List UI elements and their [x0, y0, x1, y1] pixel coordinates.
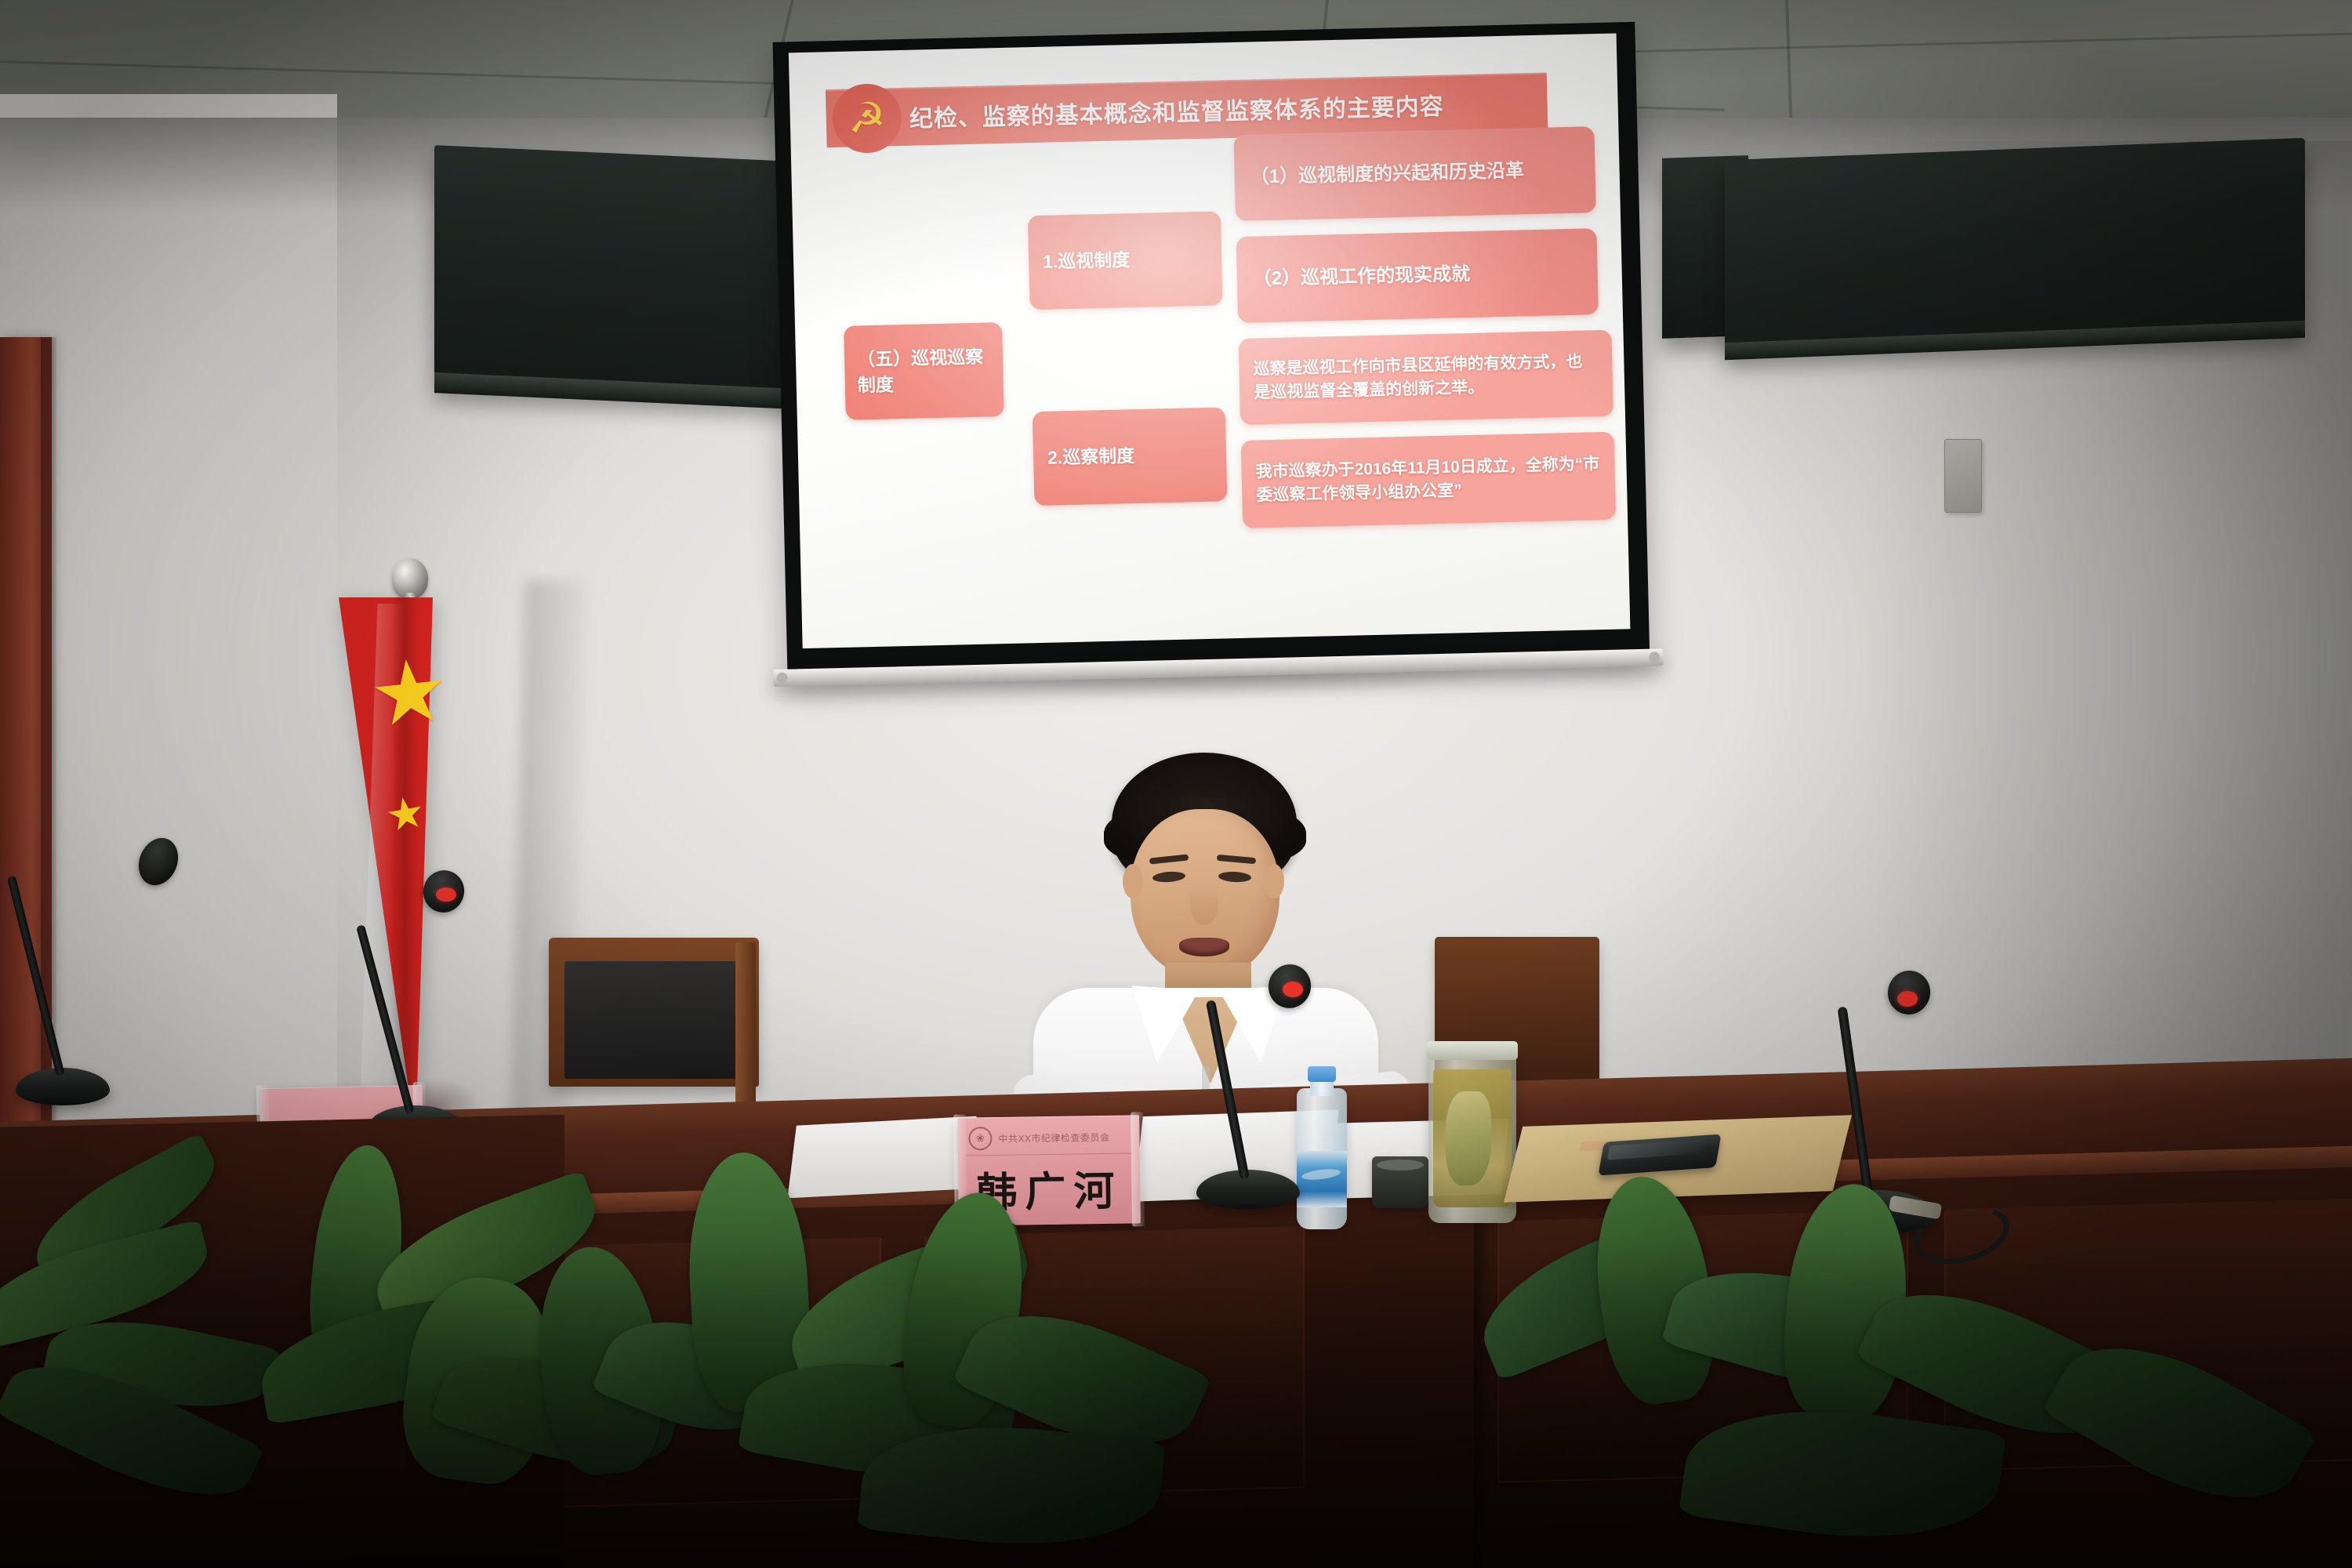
projection-screen: ☭ 纪检、监察的基本概念和监督监察体系的主要内容 （五）巡视巡察制度 1.巡视制… [773, 20, 1701, 684]
bottle-cap [1308, 1066, 1336, 1082]
papers-stack-left [787, 1116, 976, 1199]
mic-indicator-ring [436, 887, 456, 902]
water-bottle [1297, 1066, 1347, 1229]
dark-cup [1372, 1156, 1428, 1208]
slide-node-g: 我市巡察办于2016年11月10日成立，全称为“市委巡察工作领导小组办公室” [1241, 432, 1617, 528]
bottle-label [1297, 1151, 1347, 1207]
flag-big-star-icon: ★ [365, 645, 453, 741]
mic-indicator-ring [1897, 991, 1918, 1007]
slide-node-d: （1）巡视制度的兴起和历史沿革 [1233, 126, 1595, 221]
screen-frame: ☭ 纪检、监察的基本概念和监督监察体系的主要内容 （五）巡视巡察制度 1.巡视制… [773, 22, 1650, 677]
slide-title: 纪检、监察的基本概念和监督监察体系的主要内容 [909, 87, 1444, 134]
slide-node-c: 2.巡察制度 [1033, 407, 1228, 506]
nameplate-speaker-name: 韩广河 [958, 1157, 1141, 1218]
screen-canvas: ☭ 纪检、监察的基本概念和监督监察体系的主要内容 （五）巡视巡察制度 1.巡视制… [789, 33, 1631, 648]
flag-small-star-icon: ★ [383, 789, 429, 839]
slide-node-b: 1.巡视制度 [1028, 211, 1223, 310]
person-nose [1190, 884, 1218, 925]
glass-tea-jar [1428, 1041, 1516, 1228]
mic-indicator-ring [1283, 982, 1303, 997]
person-ear-right [1264, 864, 1284, 898]
person-ear-left [1123, 864, 1143, 898]
nameplate-org-text: 中共XX市纪律检查委员会 [998, 1130, 1109, 1145]
meeting-room-photo: ☭ 纪检、监察的基本概念和监督监察体系的主要内容 （五）巡视巡察制度 1.巡视制… [0, 0, 2352, 1568]
presentation-slide: ☭ 纪检、监察的基本概念和监督监察体系的主要内容 （五）巡视巡察制度 1.巡视制… [789, 33, 1631, 648]
wall-mounted-box [1944, 439, 1982, 513]
hammer-sickle-glyph: ☭ [848, 96, 887, 140]
party-emblem-icon: ☭ [832, 83, 902, 154]
flag-finial [392, 558, 428, 599]
ac-valance-right [1725, 138, 2305, 356]
nameplate-speaker: ❀ 中共XX市纪律检查委员会 韩广河 [957, 1115, 1141, 1225]
ac-valance-left [434, 145, 811, 405]
nameplate-org-line: ❀ 中共XX市纪律检查委员会 [968, 1125, 1109, 1151]
tea-jar-lid [1427, 1041, 1518, 1060]
slide-node-e: （2）巡视工作的现实成就 [1236, 228, 1599, 323]
slide-node-f: 巡察是巡视工作向市县区延伸的有效方式，也是巡视监督全覆盖的创新之举。 [1239, 330, 1613, 425]
nameplate-divider [966, 1153, 1132, 1156]
slide-node-a: （五）巡视巡察制度 [844, 322, 1004, 420]
bottom-shadow [0, 1239, 2352, 1568]
tea-leaves [1446, 1091, 1491, 1185]
person-mouth [1179, 938, 1229, 956]
org-seal-icon: ❀ [968, 1127, 992, 1150]
